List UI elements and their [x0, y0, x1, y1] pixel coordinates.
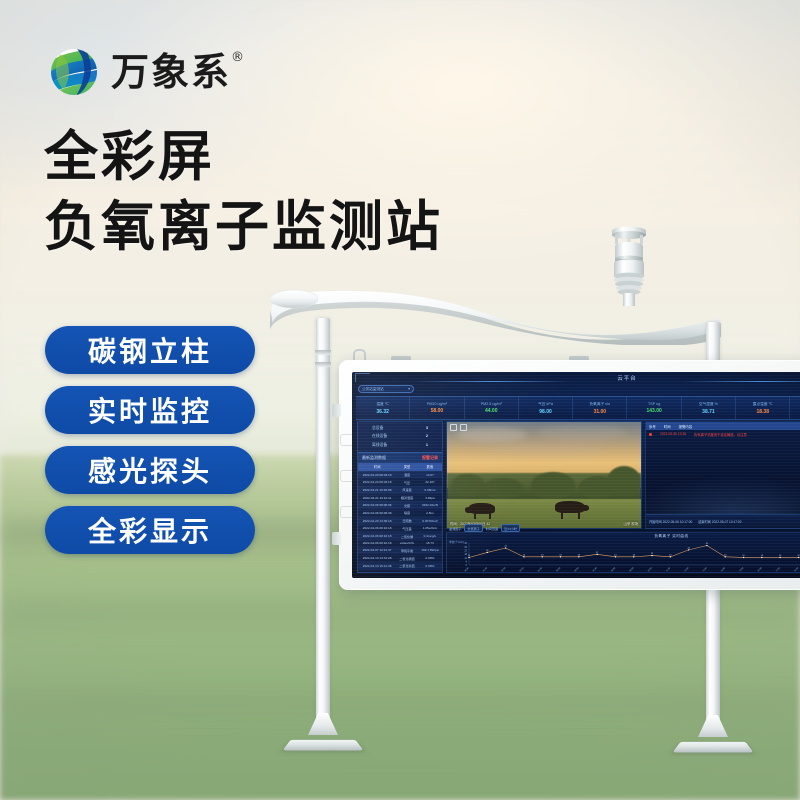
svg-text:24: 24: [687, 548, 690, 550]
product-marketing-image: 万象系 ® 全彩屏 负氧离子监测站 碳钢立柱 实时监控 感光探头 全彩显示: [0, 0, 800, 800]
table-row[interactable]: 2022-04-06 08:10:18气压差1.05e/2cm: [358, 525, 442, 533]
metric-item: 负氧离子 niu31.00: [573, 397, 627, 419]
table-cell: 0.0076Co/f: [418, 517, 442, 525]
table-cell: 192.1.8W.pa: [418, 547, 442, 555]
table-row[interactable]: 2022-04-13 15:41:38二氧化氮值0.08%: [358, 562, 442, 570]
chevron-down-icon: ▾: [408, 387, 410, 391]
chart-title: 负氧离子 实时曲线: [447, 534, 800, 539]
svg-text:12: 12: [742, 555, 745, 557]
table-cell: 2022-04-20 08:03:18: [358, 478, 396, 486]
table-row[interactable]: 2022-04-20 08:03:18气压32.187: [358, 478, 442, 486]
feature-pill-label: 全彩显示: [88, 510, 212, 550]
fullscreen-icon[interactable]: [450, 424, 457, 431]
svg-text:35: 35: [464, 542, 467, 545]
metric-strip: 温度 ℃36.32PM10 ug/m³58.00PM2.5 ug/m³44.00…: [356, 396, 800, 420]
svg-text:13: 13: [614, 554, 617, 556]
table-row[interactable]: 2022-04-21 10:40:08风速度0.38m/s: [358, 486, 442, 494]
table-header-cell: 数值: [418, 463, 442, 471]
device-stat-label: 在线设备: [372, 434, 387, 439]
alarm-message: 负氧离子浓度低于设定阈值，请注意: [694, 432, 747, 437]
table-cell: 2022-04-13 15:41:38: [358, 562, 396, 570]
station-select-dropdown[interactable]: 公务站监测站 ▾: [358, 385, 414, 393]
metric-value: 36.32: [376, 409, 389, 415]
feature-pill-label: 实时监控: [88, 390, 212, 430]
table-cell: 2.6lm: [418, 509, 442, 517]
table-body: 2022-04-20 08:03:18温度13.072022-04-20 08:…: [358, 471, 442, 570]
svg-text:09:00: 09:00: [629, 567, 635, 573]
feature-pill-label: 感光探头: [88, 450, 212, 490]
metric-label: 空气湿度 %: [699, 402, 718, 407]
table-header-row: 时间类型数值: [358, 463, 442, 471]
table-row[interactable]: 2022-04-06 08:10:18voltes/CTo18.73: [358, 540, 442, 547]
svg-text:23: 23: [464, 549, 467, 552]
table-cell: 3.99pa: [418, 494, 442, 502]
table-cell: 2022-04-06 08:10:18: [358, 525, 396, 533]
table-cell: 2022-04-20 13:36:18: [358, 517, 396, 525]
svg-text:27: 27: [504, 546, 507, 548]
pole-foot-right: [677, 730, 749, 760]
snapshot-icon[interactable]: [460, 424, 467, 431]
chart-controls: 监测因子 负氧离子 时间范围 近24小时: [449, 524, 520, 532]
metric-label: 气压 kPa: [538, 402, 553, 407]
alarm-panel-backdrop: [646, 458, 800, 514]
brand-logo: 万象系 ®: [46, 44, 231, 100]
svg-text:13: 13: [633, 554, 636, 556]
svg-text:20: 20: [486, 550, 489, 552]
table-cell: 2022-04-13 13:31:28: [358, 554, 396, 562]
feature-pill-list: 碳钢立柱 实时监控 感光探头 全彩显示: [45, 326, 255, 554]
svg-text:13: 13: [724, 554, 727, 556]
metric-item: 露点温度 ℃18.38: [736, 397, 790, 419]
svg-text:12: 12: [779, 555, 782, 557]
brand-name: 万象系 ®: [111, 53, 231, 91]
table-row[interactable]: 2022-04-20 08:03:18温度13.07: [358, 471, 442, 479]
svg-text:00:00: 00:00: [465, 567, 471, 573]
alarm-col-time: 时间: [664, 424, 671, 429]
metric-label: 负氧离子 niu: [589, 402, 610, 407]
table-cell: 二氧化硫值: [396, 554, 418, 562]
chart-factor-select[interactable]: 负氧离子: [464, 524, 482, 532]
metric-item: TSP ug143.00: [627, 397, 681, 419]
device-stat-value: 2: [426, 434, 428, 439]
table-cell: 气压: [396, 478, 418, 486]
table-row[interactable]: 2022-04-06 08:06:38噪音2.6lm: [358, 509, 442, 517]
table-cell: 13.07: [418, 471, 442, 479]
alarm-dot-icon: [649, 433, 652, 436]
latest-data-table: 时间类型数值 2022-04-20 08:03:18温度13.072022-04…: [358, 463, 442, 570]
side-bracket: [332, 532, 341, 545]
table-cell: voltes/CTo: [396, 540, 418, 547]
svg-text:03:00: 03:00: [520, 567, 526, 573]
svg-text:12: 12: [761, 555, 764, 557]
svg-text:08:00: 08:00: [611, 567, 617, 573]
svg-text:13:00: 13:00: [703, 567, 709, 573]
svg-text:06:00: 06:00: [574, 567, 580, 573]
svg-text:02:00: 02:00: [501, 567, 507, 573]
metric-item: 噪声 db46.00: [790, 397, 800, 419]
table-row[interactable]: 2022-04-21 10:10:11相对湿度3.99pa: [358, 494, 442, 502]
table-cell: 二氧化氮值: [396, 562, 418, 570]
headline-block: 全彩屏 负氧离子监测站: [44, 122, 443, 261]
table-cell: 噪音: [396, 509, 418, 517]
chart-factor-label: 监测因子: [449, 526, 461, 531]
latest-data-panel-header: 最新监测数据 报警记录: [358, 452, 442, 463]
screen-content[interactable]: 云平台 公务站监测站 ▾ 管理员 退出 温度 ℃36.32PM10 ug/m³5…: [352, 372, 800, 578]
metric-item: PM10 ug/m³58.00: [410, 397, 464, 419]
device-stat-row: 离线设备1: [358, 443, 442, 448]
alarm-records-link[interactable]: 报警记录: [422, 455, 438, 461]
chart-plot-area: 0612182329351200:002001:002702:001303:00…: [447, 540, 800, 574]
alarm-start-time[interactable]: 开始时间 2022-05-06 10:17:00: [649, 519, 692, 524]
table-header-cell: 时间: [358, 463, 396, 471]
svg-text:13: 13: [523, 554, 526, 556]
screen-title: 云平台: [352, 374, 800, 382]
metric-item: 温度 ℃36.32: [356, 397, 410, 419]
metric-value: 98.00: [539, 409, 552, 415]
table-cell: 日照数: [396, 517, 418, 525]
alarm-end-time[interactable]: 结束时间 2022-05-07 10:17:00: [698, 519, 741, 524]
table-row[interactable]: 2022-04-06 08:10:18二氧化碳0.4mcg/L: [358, 532, 442, 540]
device-stat-label: 总设备: [372, 426, 383, 431]
table-cell: 3192.16e/N: [418, 501, 442, 509]
svg-text:18:00: 18:00: [794, 567, 800, 573]
svg-text:17: 17: [596, 552, 599, 554]
live-camera-feed[interactable]: 时间：2022年03月06日 42 山亭 现场: [446, 421, 642, 529]
table-cell: 0.38m/s: [418, 486, 442, 494]
device-stat-value: 3: [426, 426, 428, 431]
metric-value: 143.00: [646, 408, 661, 414]
feature-pill-full-color-display: 全彩显示: [45, 506, 255, 554]
alarm-time: 2022-05-06 13:36: [660, 432, 686, 436]
svg-text:6: 6: [466, 560, 468, 563]
svg-text:13: 13: [559, 554, 562, 556]
table-header-cell: 类型: [396, 463, 418, 471]
svg-text:13: 13: [541, 554, 544, 556]
metric-label: 温度 ℃: [376, 402, 389, 407]
svg-text:05:00: 05:00: [556, 567, 562, 573]
svg-text:29: 29: [464, 546, 467, 549]
table-row[interactable]: 2022-04-13 13:31:28二氧化硫值0.08%: [358, 554, 442, 562]
svg-text:17:00: 17:00: [776, 567, 782, 573]
svg-text:13: 13: [578, 554, 581, 556]
svg-text:12: 12: [464, 557, 467, 560]
device-stat-row: 在线设备2: [358, 434, 442, 439]
svg-text:14:00: 14:00: [721, 567, 727, 573]
device-stats-list: 总设备3在线设备2离线设备1: [358, 426, 442, 448]
screen-header: 云平台: [352, 372, 800, 387]
realtime-line-chart: 监测因子 负氧离子 时间范围 近24小时 负氧离子 实时曲线 单位(个/cm³)…: [446, 532, 800, 573]
chart-range-label: 时间范围: [486, 526, 498, 531]
alarm-row[interactable]: 2022-05-06 13:36 负氧离子浓度低于设定阈值，请注意: [646, 430, 800, 439]
feature-pill-label: 碳钢立柱: [88, 330, 212, 370]
svg-text:11:00: 11:00: [666, 567, 672, 573]
metric-value: 58.00: [431, 408, 444, 414]
table-cell: 0.08%: [418, 562, 442, 570]
table-cell: 2022-04-06 08:06:38: [358, 509, 396, 517]
metric-value: 31.00: [594, 409, 607, 415]
brand-name-text: 万象系: [111, 50, 231, 94]
table-cell: 2022-04-21 10:40:08: [358, 486, 396, 494]
feature-pill-carbon-steel-column: 碳钢立柱: [45, 326, 255, 374]
table-cell: 2022-04-06 08:06:06: [358, 501, 396, 509]
table-cell: 2022-04-20 08:03:18: [358, 471, 396, 479]
globe-swirl-logo-icon: [46, 44, 102, 100]
svg-text:0: 0: [466, 564, 468, 567]
svg-text:12:00: 12:00: [684, 567, 690, 573]
table-cell: 相对湿度: [396, 494, 418, 502]
table-cell: 1.05e/2cm: [418, 525, 442, 533]
led-display-monitor: 云平台 公务站监测站 ▾ 管理员 退出 温度 ℃36.32PM10 ug/m³5…: [339, 360, 800, 590]
metric-label: PM2.5 ug/m³: [481, 402, 502, 406]
table-cell: 二氧化碳: [396, 532, 418, 540]
table-row[interactable]: 2022-04-07 12:41:47甲烷平衡192.1.8W.pa: [358, 547, 442, 555]
table-cell: 光照: [396, 501, 418, 509]
side-bracket: [332, 404, 341, 417]
svg-text:15: 15: [651, 553, 654, 555]
table-cell: 风速度: [396, 486, 418, 494]
table-cell: 2022-04-21 10:10:11: [358, 494, 396, 502]
video-location: 山亭 现场: [623, 521, 638, 526]
alarm-panel: 序号 时间 报警内容 2022-05-06 13:36 负氧离子浓度低于设定阈值…: [645, 421, 800, 529]
chart-range-select[interactable]: 近24小时: [501, 524, 520, 532]
svg-text:31: 31: [706, 543, 709, 545]
pole-foot-left: [287, 728, 359, 758]
headline-line-1: 全彩屏: [44, 122, 443, 192]
panel-title: 最新监测数据: [362, 455, 386, 461]
svg-text:07:00: 07:00: [593, 567, 599, 573]
metric-label: PM10 ug/m³: [427, 402, 447, 406]
wave-canopy: [268, 283, 723, 345]
table-cell: 0.4mcg/L: [418, 532, 442, 540]
table-row[interactable]: 2022-04-20 13:36:18日照数0.0076Co/f: [358, 517, 442, 525]
headline-line-2: 负氧离子监测站: [44, 192, 443, 262]
feature-pill-realtime-monitoring: 实时监控: [45, 386, 255, 434]
table-row[interactable]: 2022-04-06 08:06:06光照3192.16e/N: [358, 501, 442, 509]
feature-pill-photosensitive-probe: 感光探头: [45, 446, 255, 494]
carbon-steel-pole-left: [316, 318, 330, 730]
table-cell: 2022-04-07 12:41:47: [358, 547, 396, 555]
table-cell: 气压差: [396, 525, 418, 533]
metric-value: 44.00: [485, 408, 498, 414]
alarm-col-message: 报警内容: [679, 424, 693, 429]
device-stat-label: 离线设备: [372, 443, 387, 448]
video-controls[interactable]: [450, 424, 467, 431]
table-cell: 32.187: [418, 478, 442, 486]
alarm-col-index: 序号: [649, 424, 656, 429]
metric-item: PM2.5 ug/m³44.00: [465, 397, 519, 419]
alarm-header-row: 序号 时间 报警内容: [646, 422, 800, 430]
svg-text:16:00: 16:00: [757, 567, 763, 573]
table-cell: 0.08%: [418, 554, 442, 562]
metric-item: 气压 kPa98.00: [519, 397, 573, 419]
device-stat-value: 1: [426, 443, 428, 448]
table-cell: 18.73: [418, 540, 442, 547]
alarm-footer: 开始时间 2022-05-06 10:17:00 结束时间 2022-05-07…: [646, 514, 800, 528]
metric-item: 空气湿度 %38.71: [682, 397, 736, 419]
left-stats-panel: 总设备3在线设备2离线设备1 最新监测数据 报警记录 时间类型数值 2022-0…: [357, 421, 443, 573]
svg-text:10:00: 10:00: [648, 567, 654, 573]
metric-value: 38.71: [702, 409, 715, 415]
svg-text:01:00: 01:00: [483, 567, 489, 573]
metric-value: 18.38: [756, 409, 769, 415]
table-cell: 甲烷平衡: [396, 547, 418, 555]
table-cell: 2022-04-06 08:10:18: [358, 532, 396, 540]
device-stat-row: 总设备3: [358, 426, 442, 431]
registered-mark-icon: ®: [231, 51, 246, 64]
table-cell: 温度: [396, 471, 418, 479]
metric-label: 露点温度 ℃: [753, 402, 773, 407]
metric-label: TSP ug: [648, 402, 660, 406]
table-cell: 2022-04-06 08:10:18: [358, 540, 396, 547]
station-select-value: 公务站监测站: [362, 387, 384, 392]
svg-text:15:00: 15:00: [739, 567, 745, 573]
svg-text:04:00: 04:00: [538, 567, 544, 573]
